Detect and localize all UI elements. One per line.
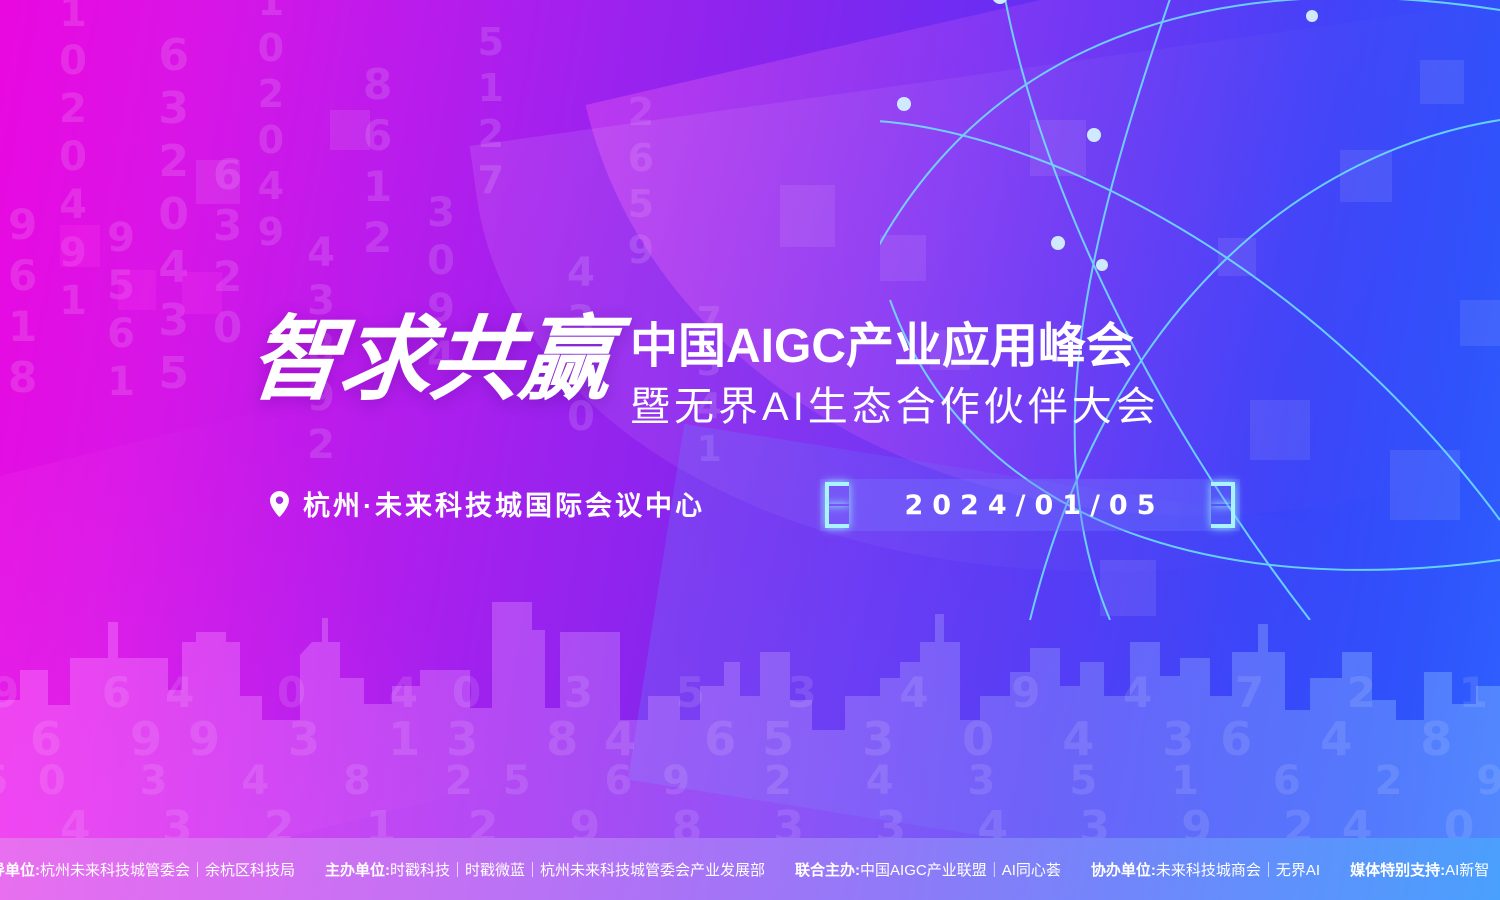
footer-credit-group: 媒体特别支持:AI新智 (1350, 859, 1489, 880)
bracket-bottom-right-icon (1211, 504, 1235, 528)
footer-credit-value: 杭州未来科技城管委会｜余杭区科技局 (40, 859, 295, 880)
footer-credit-value: 未来科技城商会｜无界AI (1156, 859, 1320, 880)
banner-content: 智求共赢 中国AIGC产业应用峰会 暨无界AI生态合作伙伴大会 杭州·未来科技城… (0, 0, 1500, 860)
footer-credit-group: 联合主办:中国AIGC产业联盟｜AI同心荟 (795, 859, 1061, 880)
footer-credits-track: 导单位:杭州未来科技城管委会｜余杭区科技局主办单位:时戳科技｜时戳微蓝｜杭州未来… (0, 859, 1500, 880)
footer-credit-value: 中国AIGC产业联盟｜AI同心荟 (860, 859, 1061, 880)
location-pin-icon (270, 491, 289, 517)
venue-row: 杭州·未来科技城国际会议中心 (270, 484, 705, 523)
main-title: 智求共赢 (245, 312, 615, 408)
bracket-top-left-icon (825, 482, 849, 506)
conference-banner: 1020491 6320435 9618 9561 6320 102049 43… (0, 0, 1500, 900)
date-text: 2024/01/05 (895, 490, 1164, 521)
footer-credit-label: 媒体特别支持: (1350, 859, 1445, 880)
footer-credits-bar: 导单位:杭州未来科技城管委会｜余杭区科技局主办单位:时戳科技｜时戳微蓝｜杭州未来… (0, 838, 1500, 900)
footer-credit-value: AI新智 (1445, 859, 1489, 880)
footer-credit-group: 主办单位:时戳科技｜时戳微蓝｜杭州未来科技城管委会产业发展部 (325, 859, 765, 880)
footer-credit-group: 导单位:杭州未来科技城管委会｜余杭区科技局 (0, 859, 295, 880)
bracket-bottom-left-icon (825, 504, 849, 528)
bracket-top-right-icon (1211, 482, 1235, 506)
date-badge: 2024/01/05 (820, 479, 1240, 531)
footer-credit-value: 时戳科技｜时戳微蓝｜杭州未来科技城管委会产业发展部 (390, 859, 765, 880)
footer-credit-label: 协办单位: (1091, 859, 1156, 880)
footer-credit-label: 主办单位: (325, 859, 390, 880)
footer-credit-label: 导单位: (0, 859, 40, 880)
venue-text: 杭州·未来科技城国际会议中心 (303, 484, 705, 523)
footer-credit-label: 联合主办: (795, 859, 860, 880)
footer-credit-group: 协办单位:未来科技城商会｜无界AI (1091, 859, 1320, 880)
headline: 中国AIGC产业应用峰会 (630, 318, 1160, 376)
title-block: 智求共赢 中国AIGC产业应用峰会 暨无界AI生态合作伙伴大会 (250, 312, 1160, 434)
subheadline: 暨无界AI生态合作伙伴大会 (630, 380, 1160, 434)
